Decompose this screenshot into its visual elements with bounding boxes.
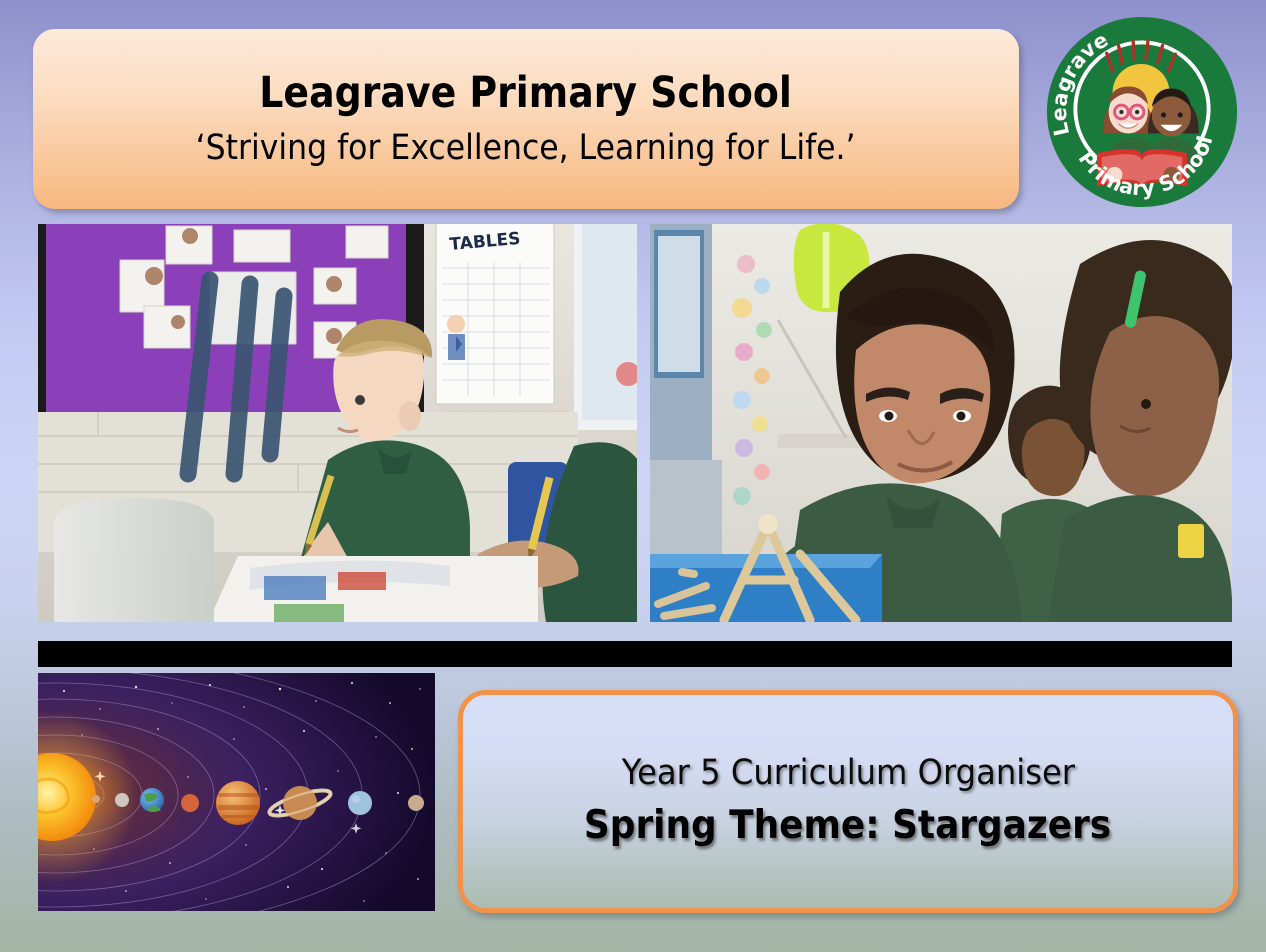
black-divider-bar bbox=[38, 641, 1232, 667]
school-name: Leagrave Primary School bbox=[260, 69, 793, 117]
school-logo: Leagrave Primary School bbox=[1044, 14, 1240, 210]
school-motto: ‘Striving for Excellence, Learning for L… bbox=[196, 127, 856, 169]
school-title-banner: Leagrave Primary School ‘Striving for Ex… bbox=[33, 29, 1019, 209]
slide-canvas: Leagrave Primary School ‘Striving for Ex… bbox=[0, 0, 1266, 952]
classroom-listening-photo: TABLES bbox=[38, 224, 637, 622]
curriculum-caption-box: Year 5 Curriculum Organiser Spring Theme… bbox=[458, 690, 1238, 913]
spring-theme-label: Spring Theme: Stargazers bbox=[584, 802, 1111, 851]
solar-system-illustration bbox=[38, 673, 435, 911]
curriculum-organiser-label: Year 5 Curriculum Organiser bbox=[621, 752, 1074, 796]
dt-lollystick-building-photo bbox=[650, 224, 1232, 622]
